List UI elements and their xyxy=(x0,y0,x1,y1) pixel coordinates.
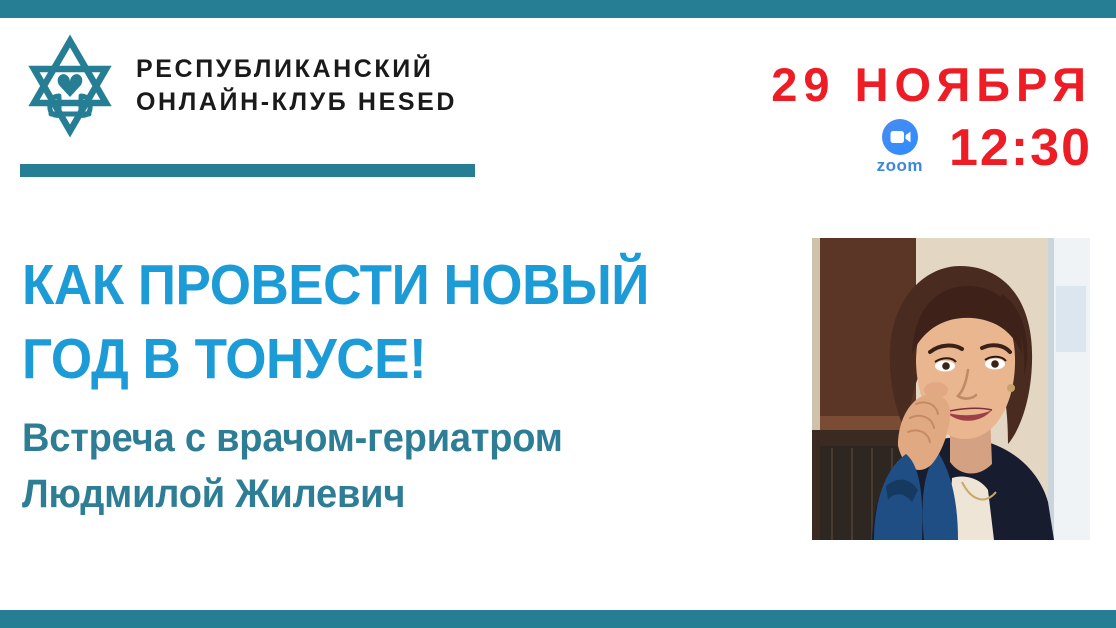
headline-line-1: КАК ПРОВЕСТИ НОВЫЙ xyxy=(22,248,738,322)
event-date: 29 НОЯБРЯ xyxy=(712,58,1092,112)
subtitle-line-1: Встреча с врачом-гериатром xyxy=(22,410,754,466)
event-time: 12:30 xyxy=(949,121,1092,175)
subtitle-line-2: Людмилой Жилевич xyxy=(22,466,754,522)
top-accent-bar xyxy=(0,0,1116,18)
event-subtitle: Встреча с врачом-гериатром Людмилой Жиле… xyxy=(22,410,754,522)
brand-logo-block: РЕСПУБЛИКАНСКИЙ ОНЛАЙН-КЛУБ HESED xyxy=(18,34,457,138)
brand-name-line-1: РЕСПУБЛИКАНСКИЙ xyxy=(136,53,457,86)
event-headline: КАК ПРОВЕСТИ НОВЫЙ ГОД В ТОНУСЕ! xyxy=(22,248,738,396)
zoom-logo: zoom xyxy=(877,118,923,175)
announcement-poster: РЕСПУБЛИКАНСКИЙ ОНЛАЙН-КЛУБ HESED 29 НОЯ… xyxy=(0,0,1116,628)
brand-name: РЕСПУБЛИКАНСКИЙ ОНЛАЙН-КЛУБ HESED xyxy=(136,53,457,119)
header-divider xyxy=(20,164,475,177)
time-row: zoom 12:30 xyxy=(712,118,1092,177)
zoom-wordmark: zoom xyxy=(877,157,923,175)
schedule-block: 29 НОЯБРЯ z xyxy=(712,58,1092,177)
heart-shape xyxy=(58,74,83,97)
headline-line-2: ГОД В ТОНУСЕ! xyxy=(22,322,738,396)
zoom-video-camera-icon xyxy=(881,118,919,156)
speaker-photo xyxy=(812,238,1090,540)
bottom-accent-bar xyxy=(0,610,1116,628)
star-of-david-heart-hands-icon xyxy=(18,34,122,138)
brand-name-line-2: ОНЛАЙН-КЛУБ HESED xyxy=(136,86,457,119)
